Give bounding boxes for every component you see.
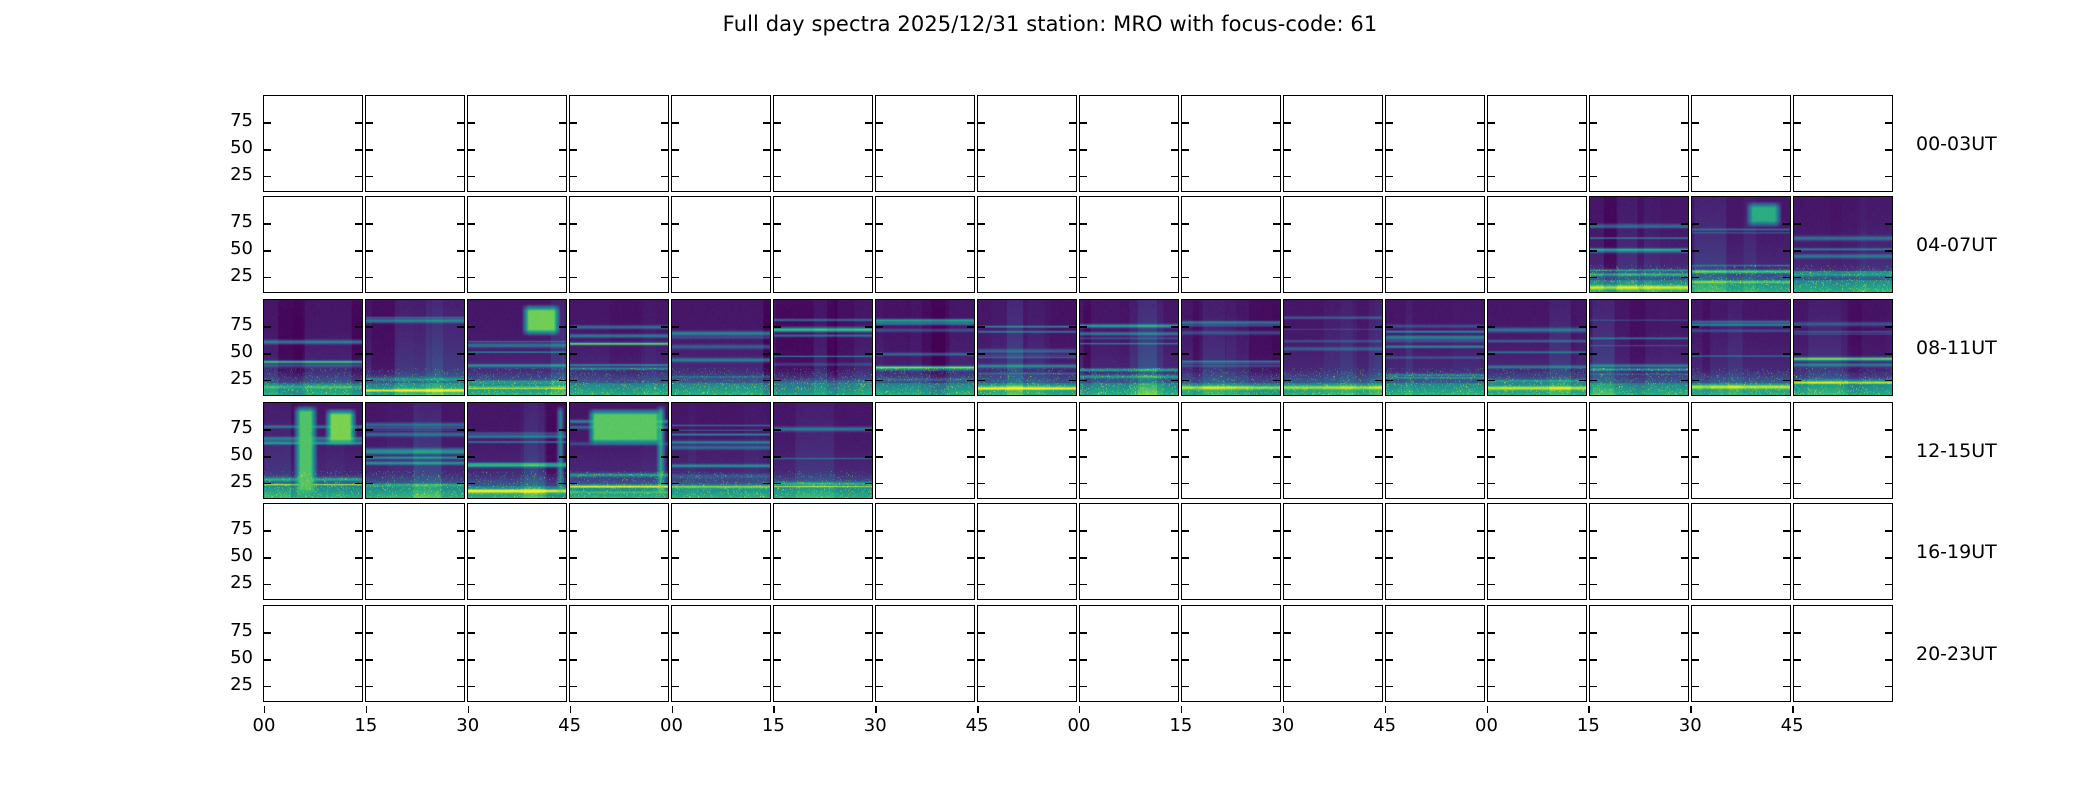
y-tick-mark <box>774 686 781 687</box>
y-tick-mark <box>1488 176 1495 177</box>
spectrogram-image <box>1692 197 1790 292</box>
spectrogram-panel[interactable] <box>1589 402 1689 499</box>
y-tick-mark <box>1488 122 1495 123</box>
spectrogram-panel[interactable] <box>773 402 873 499</box>
y-tick-mark <box>1692 686 1699 687</box>
y-tick-mark <box>1182 483 1189 484</box>
x-tick-label: 30 <box>1271 717 1294 735</box>
x-tick-label: 45 <box>1373 717 1396 735</box>
y-tick-mark <box>1182 223 1189 224</box>
spectrogram-panel[interactable] <box>365 402 465 499</box>
spectrogram-panel[interactable] <box>365 605 465 702</box>
spectrogram-panel[interactable] <box>1793 402 1893 499</box>
y-tick-mark <box>661 277 668 278</box>
y-tick-mark <box>1386 250 1393 251</box>
y-tick-mark <box>559 584 566 585</box>
spectrogram-panel[interactable] <box>773 299 873 396</box>
y-tick-mark <box>763 122 770 123</box>
y-tick-mark <box>1488 149 1495 150</box>
spectrogram-panel[interactable] <box>875 605 975 702</box>
spectrogram-panel[interactable] <box>1691 95 1791 192</box>
spectrogram-image <box>1794 300 1892 395</box>
spectrogram-panel[interactable] <box>1487 503 1587 600</box>
spectrogram-image <box>978 300 1076 395</box>
spectrogram-row <box>263 196 1893 293</box>
spectrogram-panel[interactable] <box>1181 299 1281 396</box>
y-tick-mark <box>1783 122 1790 123</box>
spectrogram-image <box>366 300 464 395</box>
spectrogram-panel[interactable] <box>569 503 669 600</box>
spectrogram-panel[interactable] <box>467 299 567 396</box>
spectrogram-panel[interactable] <box>569 605 669 702</box>
y-tick-mark <box>1386 149 1393 150</box>
y-tick-mark <box>1182 584 1189 585</box>
spectrogram-panel[interactable] <box>671 605 771 702</box>
y-tick-mark <box>264 250 271 251</box>
spectrogram-image <box>264 300 362 395</box>
y-tick-mark <box>355 122 362 123</box>
spectrogram-image <box>876 300 974 395</box>
y-tick-mark <box>876 122 883 123</box>
y-tick-mark <box>1182 456 1189 457</box>
spectrogram-panel[interactable] <box>263 503 363 600</box>
spectrogram-panel[interactable] <box>671 402 771 499</box>
y-tick-label: 50 <box>230 139 253 157</box>
y-tick-mark <box>570 557 577 558</box>
y-tick-mark <box>1386 659 1393 660</box>
y-tick-mark <box>865 122 872 123</box>
spectrogram-panel[interactable] <box>1487 95 1587 192</box>
spectrogram-panel[interactable] <box>1589 299 1689 396</box>
spectrogram-panel[interactable] <box>263 605 363 702</box>
y-tick-mark <box>1273 149 1280 150</box>
y-tick-mark <box>1590 632 1597 633</box>
y-tick-mark <box>1273 250 1280 251</box>
spectrogram-panel[interactable] <box>875 95 975 192</box>
y-tick-mark <box>672 176 679 177</box>
spectrogram-panel[interactable] <box>1181 503 1281 600</box>
y-tick-mark <box>1579 584 1586 585</box>
y-tick-mark <box>1590 122 1597 123</box>
spectrogram-panel[interactable] <box>1487 196 1587 293</box>
y-tick-mark <box>967 176 974 177</box>
spectrogram-panel[interactable] <box>365 196 465 293</box>
y-tick-mark <box>1692 149 1699 150</box>
spectrogram-panel[interactable] <box>1793 196 1893 293</box>
spectrogram-panel[interactable] <box>773 95 873 192</box>
y-tick-mark <box>559 530 566 531</box>
y-tick-mark <box>1080 530 1087 531</box>
y-tick-mark <box>661 149 668 150</box>
spectrogram-panel[interactable] <box>1079 605 1179 702</box>
y-tick-mark <box>1783 557 1790 558</box>
spectrogram-panel[interactable] <box>1487 299 1587 396</box>
x-tick-mark <box>264 706 265 713</box>
y-tick-mark <box>1375 686 1382 687</box>
y-tick-mark <box>763 277 770 278</box>
y-tick-mark <box>355 530 362 531</box>
y-tick-mark <box>774 632 781 633</box>
spectrogram-panel[interactable] <box>569 299 669 396</box>
spectrogram-panel[interactable] <box>977 402 1077 499</box>
y-tick-mark <box>366 686 373 687</box>
x-tick-mark <box>977 706 978 713</box>
spectrogram-image <box>1794 197 1892 292</box>
y-tick-mark <box>1171 277 1178 278</box>
spectrogram-image <box>1386 300 1484 395</box>
y-tick-mark <box>264 659 271 660</box>
y-tick-mark <box>1069 632 1076 633</box>
spectrogram-panel[interactable] <box>1589 605 1689 702</box>
spectrogram-panel[interactable] <box>1283 605 1383 702</box>
spectrogram-panel[interactable] <box>671 299 771 396</box>
y-tick-mark <box>264 632 271 633</box>
y-tick-mark <box>1284 632 1291 633</box>
spectrogram-panel[interactable] <box>671 196 771 293</box>
spectrogram-panel[interactable] <box>1589 503 1689 600</box>
y-tick-mark <box>570 530 577 531</box>
spectrogram-panel[interactable] <box>875 299 975 396</box>
y-tick-mark <box>1794 632 1801 633</box>
y-tick-mark <box>865 584 872 585</box>
y-tick-mark <box>661 686 668 687</box>
spectrogram-panel[interactable] <box>977 196 1077 293</box>
spectrogram-panel[interactable] <box>1079 196 1179 293</box>
spectrogram-panel[interactable] <box>1589 196 1689 293</box>
spectrogram-panel[interactable] <box>1691 605 1791 702</box>
y-tick-mark <box>1386 557 1393 558</box>
y-tick-mark <box>1375 277 1382 278</box>
spectrogram-panel[interactable] <box>1385 299 1485 396</box>
y-tick-mark <box>672 659 679 660</box>
spectrogram-panel[interactable] <box>365 299 465 396</box>
y-tick-mark <box>967 659 974 660</box>
y-tick-mark <box>1590 176 1597 177</box>
spectrogram-panel[interactable] <box>467 402 567 499</box>
y-tick-mark <box>1681 686 1688 687</box>
y-tick-mark <box>457 584 464 585</box>
y-tick-mark <box>570 176 577 177</box>
y-tick-mark <box>468 122 475 123</box>
y-tick-mark <box>457 530 464 531</box>
spectrogram-panel[interactable] <box>1589 95 1689 192</box>
spectrogram-panel[interactable] <box>1181 402 1281 499</box>
y-tick-mark <box>876 429 883 430</box>
spectrogram-image <box>264 403 362 498</box>
y-tick-mark <box>570 250 577 251</box>
y-tick-mark <box>774 277 781 278</box>
spectrogram-panel[interactable] <box>671 95 771 192</box>
y-tick-mark <box>1171 584 1178 585</box>
spectrogram-row <box>263 299 1893 396</box>
spectrogram-image <box>366 403 464 498</box>
spectrogram-panel[interactable] <box>1691 503 1791 600</box>
spectrogram-panel[interactable] <box>977 605 1077 702</box>
spectrogram-panel[interactable] <box>467 605 567 702</box>
y-tick-mark <box>1488 223 1495 224</box>
y-tick-mark <box>1590 483 1597 484</box>
y-tick-mark <box>468 250 475 251</box>
y-tick-mark <box>763 530 770 531</box>
spectrogram-panel[interactable] <box>1793 605 1893 702</box>
spectrogram-panel[interactable] <box>1181 95 1281 192</box>
y-tick-mark <box>1488 277 1495 278</box>
y-tick-mark <box>1080 557 1087 558</box>
y-tick-mark <box>1069 584 1076 585</box>
y-tick-mark <box>1488 429 1495 430</box>
x-tick-mark <box>1181 706 1182 713</box>
y-tick-mark <box>1284 584 1291 585</box>
y-tick-mark <box>1477 250 1484 251</box>
y-tick-mark <box>1375 483 1382 484</box>
y-tick-mark <box>1080 686 1087 687</box>
y-tick-mark <box>559 659 566 660</box>
y-tick-mark <box>978 557 985 558</box>
spectrogram-panel[interactable] <box>467 503 567 600</box>
spectrogram-panel[interactable] <box>467 196 567 293</box>
y-tick-mark <box>1579 557 1586 558</box>
y-tick-mark <box>1681 456 1688 457</box>
y-tick-mark <box>1069 659 1076 660</box>
y-tick-mark <box>1477 223 1484 224</box>
spectrogram-panel[interactable] <box>1079 503 1179 600</box>
y-tick-mark <box>978 686 985 687</box>
y-tick-mark <box>763 659 770 660</box>
y-tick-mark <box>865 530 872 531</box>
y-tick-mark <box>661 223 668 224</box>
y-tick-mark <box>876 277 883 278</box>
y-tick-mark <box>1794 483 1801 484</box>
y-tick-mark <box>1069 483 1076 484</box>
y-tick-mark <box>978 223 985 224</box>
y-tick-mark <box>1080 149 1087 150</box>
y-tick-labels: 255075 <box>205 605 253 702</box>
y-tick-mark <box>978 659 985 660</box>
spectrogram-panel[interactable] <box>263 196 363 293</box>
y-tick-mark <box>1681 584 1688 585</box>
y-tick-mark <box>355 584 362 585</box>
spectrogram-panel[interactable] <box>1691 299 1791 396</box>
y-tick-mark <box>1375 223 1382 224</box>
spectrogram-panel[interactable] <box>1385 196 1485 293</box>
y-tick-mark <box>1069 456 1076 457</box>
y-tick-mark <box>1885 686 1892 687</box>
spectrogram-panel[interactable] <box>1487 605 1587 702</box>
y-tick-mark <box>468 632 475 633</box>
y-tick-mark <box>366 530 373 531</box>
spectrogram-panel[interactable] <box>875 503 975 600</box>
spectrogram-panel[interactable] <box>773 503 873 600</box>
spectrogram-panel[interactable] <box>1283 95 1383 192</box>
spectrogram-panel[interactable] <box>1181 605 1281 702</box>
y-tick-mark <box>355 557 362 558</box>
y-tick-label: 75 <box>230 520 253 538</box>
spectrogram-panel[interactable] <box>1793 299 1893 396</box>
x-tick-mark <box>672 706 673 713</box>
y-tick-label: 75 <box>230 419 253 437</box>
y-tick-label: 25 <box>230 267 253 285</box>
spectrogram-panel[interactable] <box>1283 402 1383 499</box>
y-tick-mark <box>457 632 464 633</box>
y-tick-mark <box>570 659 577 660</box>
spectrogram-row-panels <box>263 402 1893 499</box>
y-tick-mark <box>1080 122 1087 123</box>
y-tick-mark <box>468 659 475 660</box>
y-tick-mark <box>355 149 362 150</box>
y-tick-mark <box>1375 250 1382 251</box>
x-tick-mark <box>1079 706 1080 713</box>
y-tick-mark <box>978 632 985 633</box>
y-tick-mark <box>876 176 883 177</box>
y-tick-mark <box>1692 429 1699 430</box>
spectrogram-panel[interactable] <box>1283 196 1383 293</box>
y-tick-mark <box>661 659 668 660</box>
row-caption: 12-15UT <box>1916 440 1997 462</box>
row-caption: 04-07UT <box>1916 234 1997 256</box>
y-tick-mark <box>468 176 475 177</box>
spectrogram-panel[interactable] <box>671 503 771 600</box>
y-tick-mark <box>1579 176 1586 177</box>
x-tick-label: 15 <box>762 717 785 735</box>
spectrogram-panel[interactable] <box>875 196 975 293</box>
spectrogram-panel[interactable] <box>1283 503 1383 600</box>
y-tick-mark <box>978 456 985 457</box>
y-tick-mark <box>978 429 985 430</box>
spectrogram-panel[interactable] <box>1283 299 1383 396</box>
spectrogram-panel[interactable] <box>1385 503 1485 600</box>
y-tick-mark <box>355 277 362 278</box>
y-tick-mark <box>1783 429 1790 430</box>
spectrogram-figure: Full day spectra 2025/12/31 station: MRO… <box>0 0 2100 800</box>
y-tick-mark <box>559 557 566 558</box>
y-tick-mark <box>1579 456 1586 457</box>
y-tick-mark <box>1171 176 1178 177</box>
y-tick-mark <box>264 277 271 278</box>
y-tick-mark <box>1375 659 1382 660</box>
spectrogram-panel[interactable] <box>569 196 669 293</box>
y-tick-labels: 255075 <box>205 299 253 396</box>
y-tick-mark <box>366 250 373 251</box>
spectrogram-panel[interactable] <box>1793 503 1893 600</box>
spectrogram-panel[interactable] <box>263 299 363 396</box>
spectrogram-panel[interactable] <box>1181 196 1281 293</box>
y-tick-mark <box>672 223 679 224</box>
spectrogram-panel[interactable] <box>1793 95 1893 192</box>
y-tick-mark <box>661 530 668 531</box>
y-tick-mark <box>570 149 577 150</box>
y-tick-mark <box>876 250 883 251</box>
y-tick-mark <box>876 632 883 633</box>
y-tick-mark <box>978 277 985 278</box>
row-caption: 16-19UT <box>1916 541 1997 563</box>
spectrogram-panel[interactable] <box>365 503 465 600</box>
y-tick-mark <box>1069 530 1076 531</box>
spectrogram-panel[interactable] <box>1079 299 1179 396</box>
y-tick-mark <box>1590 584 1597 585</box>
x-tick-label: 15 <box>354 717 377 735</box>
y-tick-mark <box>559 686 566 687</box>
y-tick-mark <box>457 557 464 558</box>
spectrogram-panel[interactable] <box>977 299 1077 396</box>
y-tick-mark <box>1284 277 1291 278</box>
y-tick-mark <box>763 557 770 558</box>
y-tick-mark <box>865 149 872 150</box>
spectrogram-panel[interactable] <box>875 402 975 499</box>
y-tick-mark <box>1783 659 1790 660</box>
y-tick-mark <box>661 557 668 558</box>
y-tick-mark <box>1069 557 1076 558</box>
y-tick-mark <box>1488 584 1495 585</box>
y-tick-mark <box>1783 149 1790 150</box>
spectrogram-panel[interactable] <box>977 95 1077 192</box>
spectrogram-panel[interactable] <box>1385 95 1485 192</box>
y-tick-mark <box>1590 530 1597 531</box>
y-tick-mark <box>264 223 271 224</box>
spectrogram-panel[interactable] <box>569 95 669 192</box>
spectrogram-panel[interactable] <box>1487 402 1587 499</box>
y-tick-mark <box>865 223 872 224</box>
y-tick-mark <box>559 632 566 633</box>
y-tick-mark <box>763 176 770 177</box>
y-tick-mark <box>876 686 883 687</box>
spectrogram-panel[interactable] <box>773 196 873 293</box>
spectrogram-panel[interactable] <box>263 402 363 499</box>
y-tick-mark <box>1885 483 1892 484</box>
y-tick-mark <box>1080 277 1087 278</box>
y-tick-mark <box>978 530 985 531</box>
y-tick-mark <box>1386 483 1393 484</box>
y-tick-mark <box>1273 456 1280 457</box>
y-tick-mark <box>1375 584 1382 585</box>
y-tick-mark <box>1375 149 1382 150</box>
y-tick-mark <box>1783 483 1790 484</box>
y-tick-mark <box>763 223 770 224</box>
y-tick-mark <box>1273 176 1280 177</box>
x-tick-mark <box>1283 706 1284 713</box>
spectrogram-panel[interactable] <box>1691 196 1791 293</box>
spectrogram-panel[interactable] <box>1079 95 1179 192</box>
spectrogram-panel[interactable] <box>1385 402 1485 499</box>
y-tick-mark <box>661 250 668 251</box>
spectrogram-panel[interactable] <box>569 402 669 499</box>
y-tick-mark <box>763 250 770 251</box>
y-tick-mark <box>1080 584 1087 585</box>
spectrogram-panel[interactable] <box>1691 402 1791 499</box>
spectrogram-panel[interactable] <box>1079 402 1179 499</box>
row-caption: 08-11UT <box>1916 337 1997 359</box>
spectrogram-panel[interactable] <box>773 605 873 702</box>
y-tick-mark <box>1069 122 1076 123</box>
y-tick-mark <box>661 584 668 585</box>
y-tick-mark <box>865 632 872 633</box>
y-tick-mark <box>1579 686 1586 687</box>
y-tick-mark <box>366 659 373 660</box>
y-tick-label: 50 <box>230 446 253 464</box>
spectrogram-row <box>263 402 1893 499</box>
spectrogram-panel[interactable] <box>365 95 465 192</box>
spectrogram-panel[interactable] <box>263 95 363 192</box>
spectrogram-image <box>1590 197 1688 292</box>
y-tick-mark <box>366 122 373 123</box>
y-tick-mark <box>1579 530 1586 531</box>
spectrogram-panel[interactable] <box>1385 605 1485 702</box>
y-tick-mark <box>1692 584 1699 585</box>
spectrogram-panel[interactable] <box>977 503 1077 600</box>
y-tick-mark <box>1386 686 1393 687</box>
spectrogram-panel[interactable] <box>467 95 567 192</box>
y-tick-mark <box>570 223 577 224</box>
y-tick-mark <box>1794 456 1801 457</box>
